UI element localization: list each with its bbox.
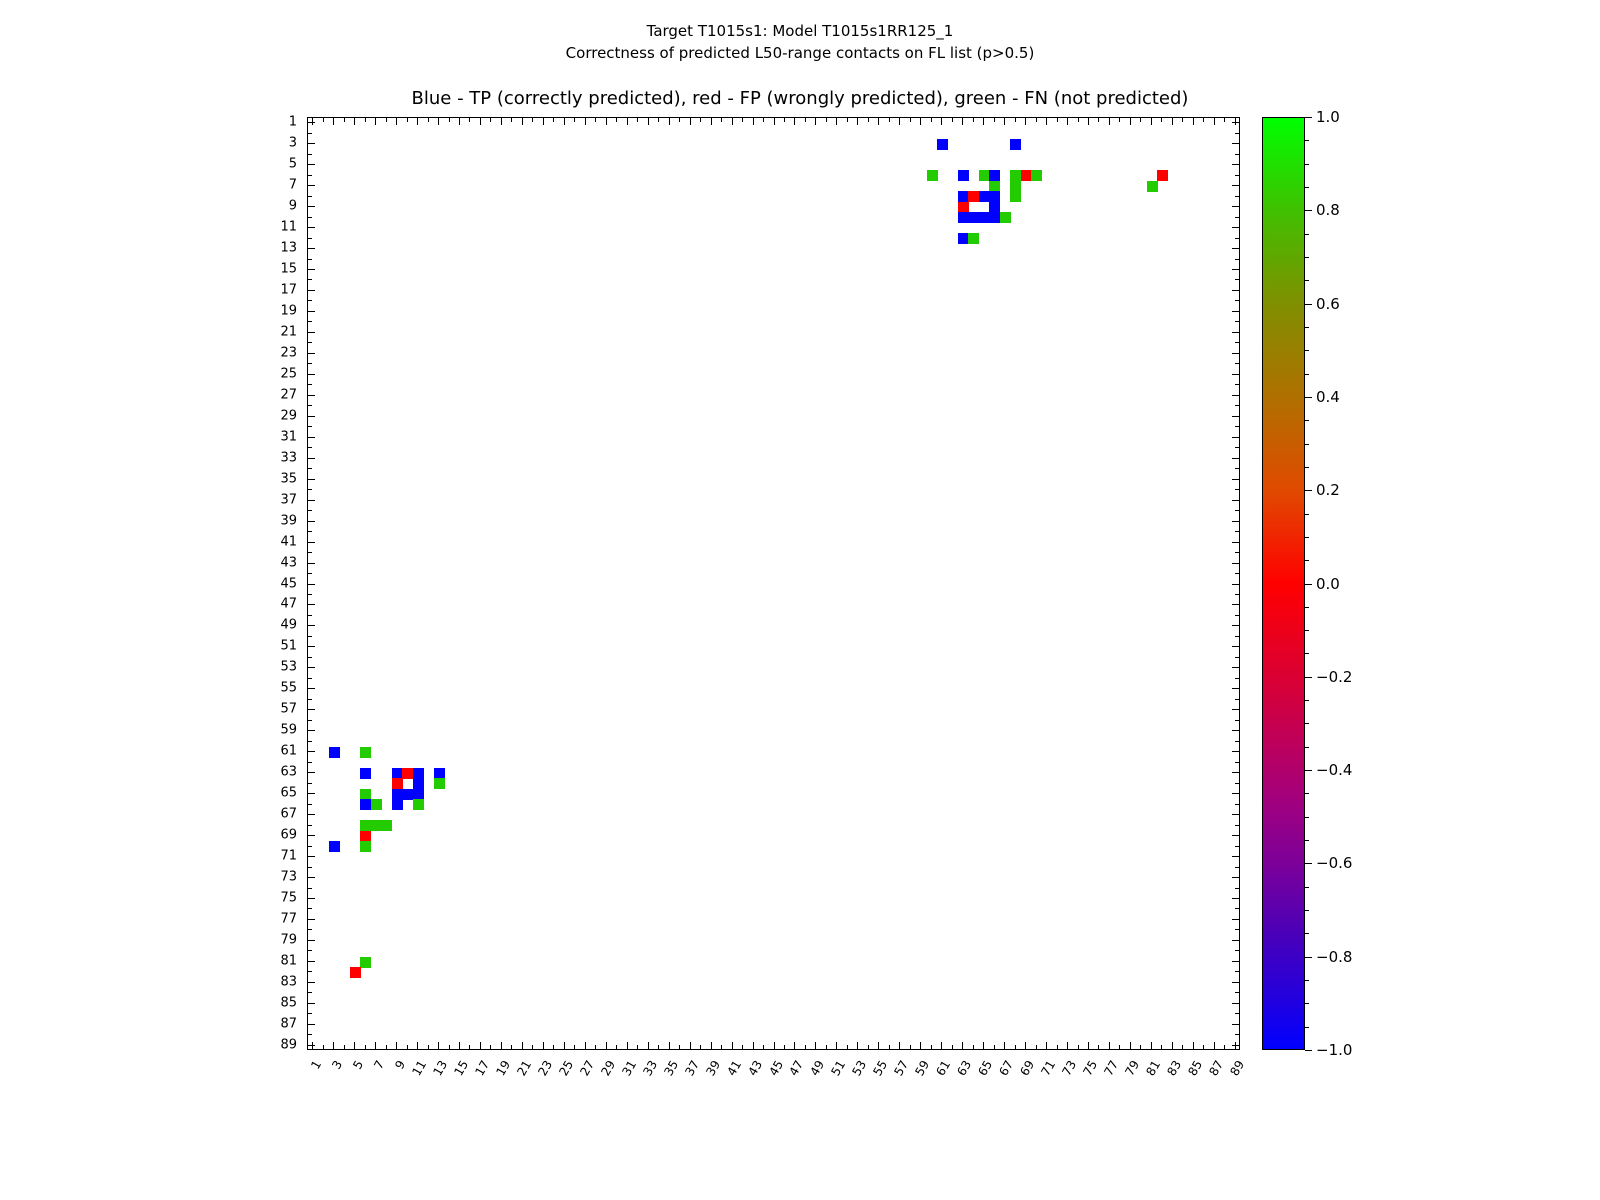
- x-tick-top-46: [784, 117, 785, 122]
- y-axis-label-61: 61: [0, 744, 297, 759]
- y-tick-right-27: [1232, 395, 1240, 396]
- colorbar-label-1: 0.8: [1316, 201, 1340, 219]
- colorbar-minor-tick-39: [1305, 1027, 1309, 1028]
- x-tick-top-39: [711, 117, 712, 125]
- x-tick-2: [323, 1045, 324, 1050]
- y-tick-right-89: [1232, 1045, 1240, 1046]
- y-tick-30: [307, 426, 312, 427]
- x-tick-top-17: [480, 117, 481, 125]
- x-tick-81: [1151, 1042, 1152, 1050]
- y-axis-label-25: 25: [0, 366, 297, 381]
- y-axis-label-71: 71: [0, 849, 297, 864]
- x-tick-top-12: [428, 117, 429, 122]
- x-tick-top-87: [1214, 117, 1215, 125]
- y-tick-right-68: [1235, 825, 1240, 826]
- x-tick-47: [794, 1042, 795, 1050]
- y-tick-32: [307, 447, 312, 448]
- y-tick-60: [307, 741, 312, 742]
- y-tick-89: [307, 1045, 315, 1046]
- x-tick-11: [417, 1042, 418, 1050]
- x-tick-top-34: [658, 117, 659, 122]
- y-tick-right-52: [1235, 657, 1240, 658]
- title-line-1: Target T1015s1: Model T1015s1RR125_1: [0, 20, 1600, 42]
- x-tick-18: [490, 1045, 491, 1050]
- y-tick-4: [307, 154, 312, 155]
- contact-cell-tp: [958, 170, 969, 181]
- colorbar-minor-tick-27: [1305, 747, 1309, 748]
- colorbar-label-3: 0.4: [1316, 388, 1340, 406]
- x-tick-top-4: [344, 117, 345, 122]
- colorbar-minor-tick-17: [1305, 514, 1309, 515]
- x-tick-1: [312, 1042, 313, 1050]
- y-tick-26: [307, 384, 312, 385]
- x-tick-top-66: [994, 117, 995, 122]
- x-tick-84: [1182, 1045, 1183, 1050]
- contact-cell-fn: [371, 820, 382, 831]
- x-tick-61: [941, 1042, 942, 1050]
- y-tick-6: [307, 175, 312, 176]
- colorbar-minor-tick-36: [1305, 957, 1309, 958]
- x-tick-top-65: [983, 117, 984, 125]
- x-tick-top-20: [511, 117, 512, 122]
- colorbar-minor-tick-9: [1305, 327, 1309, 328]
- y-axis-label-11: 11: [0, 220, 297, 235]
- y-tick-right-56: [1235, 699, 1240, 700]
- y-tick-23: [307, 353, 315, 354]
- x-tick-62: [952, 1045, 953, 1050]
- y-tick-right-20: [1235, 321, 1240, 322]
- y-tick-42: [307, 552, 312, 553]
- x-tick-75: [1088, 1042, 1089, 1050]
- y-tick-24: [307, 363, 312, 364]
- y-tick-right-31: [1232, 437, 1240, 438]
- y-tick-16: [307, 279, 312, 280]
- y-tick-1: [307, 122, 315, 123]
- y-tick-84: [307, 992, 312, 993]
- contact-cell-fn: [360, 841, 371, 852]
- colorbar-minor-tick-37: [1305, 980, 1309, 981]
- x-tick-68: [1015, 1045, 1016, 1050]
- x-tick-top-67: [1004, 117, 1005, 125]
- x-tick-79: [1130, 1042, 1131, 1050]
- y-axis-label-87: 87: [0, 1016, 297, 1031]
- colorbar-minor-tick-28: [1305, 770, 1309, 771]
- x-tick-24: [553, 1045, 554, 1050]
- y-tick-right-53: [1232, 667, 1240, 668]
- y-tick-right-48: [1235, 615, 1240, 616]
- y-tick-67: [307, 814, 315, 815]
- y-tick-right-28: [1235, 405, 1240, 406]
- y-tick-right-25: [1232, 374, 1240, 375]
- y-tick-72: [307, 867, 312, 868]
- contact-cell-fn: [1147, 181, 1158, 192]
- x-tick-29: [606, 1042, 607, 1050]
- y-tick-7: [307, 185, 315, 186]
- x-tick-top-40: [721, 117, 722, 122]
- y-tick-43: [307, 563, 315, 564]
- y-tick-right-5: [1232, 164, 1240, 165]
- x-tick-top-18: [490, 117, 491, 122]
- y-tick-77: [307, 919, 315, 920]
- y-tick-right-49: [1232, 625, 1240, 626]
- x-tick-74: [1078, 1045, 1079, 1050]
- x-tick-30: [616, 1045, 617, 1050]
- colorbar-minor-tick-13: [1305, 420, 1309, 421]
- y-tick-right-4: [1235, 154, 1240, 155]
- y-tick-52: [307, 657, 312, 658]
- x-tick-87: [1214, 1042, 1215, 1050]
- y-tick-right-75: [1232, 898, 1240, 899]
- contact-cell-fn: [413, 799, 424, 810]
- x-tick-43: [753, 1042, 754, 1050]
- contact-map-plot: [307, 117, 1240, 1050]
- y-tick-right-3: [1232, 143, 1240, 144]
- y-tick-right-43: [1232, 563, 1240, 564]
- y-tick-63: [307, 772, 315, 773]
- y-tick-40: [307, 531, 312, 532]
- contact-cell-tp: [979, 212, 990, 223]
- x-tick-top-2: [323, 117, 324, 122]
- colorbar-label-10: −1.0: [1316, 1041, 1352, 1059]
- x-tick-top-10: [407, 117, 408, 122]
- y-tick-right-7: [1232, 185, 1240, 186]
- x-tick-5: [354, 1042, 355, 1050]
- colorbar-minor-tick-20: [1305, 584, 1309, 585]
- y-axis-label-33: 33: [0, 450, 297, 465]
- x-tick-9: [396, 1042, 397, 1050]
- contact-cell-tp: [392, 799, 403, 810]
- colorbar-minor-tick-35: [1305, 933, 1309, 934]
- contact-cell-tp: [360, 799, 371, 810]
- x-tick-48: [805, 1045, 806, 1050]
- y-tick-53: [307, 667, 315, 668]
- x-tick-top-57: [899, 117, 900, 125]
- y-tick-10: [307, 217, 312, 218]
- y-tick-12: [307, 238, 312, 239]
- y-tick-38: [307, 510, 312, 511]
- y-tick-right-33: [1232, 458, 1240, 459]
- y-tick-33: [307, 458, 315, 459]
- colorbar-minor-tick-38: [1305, 1003, 1309, 1004]
- y-axis-label-9: 9: [0, 199, 297, 214]
- x-tick-top-19: [501, 117, 502, 125]
- y-tick-right-29: [1232, 416, 1240, 417]
- y-tick-48: [307, 615, 312, 616]
- y-tick-right-76: [1235, 908, 1240, 909]
- y-axis-label-57: 57: [0, 702, 297, 717]
- y-tick-right-59: [1232, 730, 1240, 731]
- x-tick-top-1: [312, 117, 313, 125]
- y-tick-right-78: [1235, 929, 1240, 930]
- y-tick-71: [307, 856, 315, 857]
- x-tick-34: [658, 1045, 659, 1050]
- x-tick-top-13: [438, 117, 439, 125]
- x-tick-top-50: [826, 117, 827, 122]
- x-tick-44: [763, 1045, 764, 1050]
- y-tick-59: [307, 730, 315, 731]
- y-tick-21: [307, 332, 315, 333]
- colorbar-label-2: 0.6: [1316, 295, 1340, 313]
- y-tick-right-12: [1235, 238, 1240, 239]
- contact-cell-fp: [958, 202, 969, 213]
- y-tick-15: [307, 269, 315, 270]
- y-axis-label-7: 7: [0, 178, 297, 193]
- y-tick-47: [307, 604, 315, 605]
- x-tick-56: [889, 1045, 890, 1050]
- x-tick-65: [983, 1042, 984, 1050]
- y-tick-79: [307, 940, 315, 941]
- x-tick-top-27: [585, 117, 586, 125]
- y-tick-8: [307, 196, 312, 197]
- y-tick-right-73: [1232, 877, 1240, 878]
- x-tick-top-24: [553, 117, 554, 122]
- contact-cells-layer: [308, 118, 1239, 1049]
- y-tick-right-44: [1235, 573, 1240, 574]
- y-tick-right-9: [1232, 206, 1240, 207]
- y-tick-86: [307, 1013, 312, 1014]
- y-axis-label-49: 49: [0, 618, 297, 633]
- x-tick-23: [543, 1042, 544, 1050]
- colorbar-label-8: −0.6: [1316, 854, 1352, 872]
- y-tick-64: [307, 783, 312, 784]
- title-line-2: Correctness of predicted L50-range conta…: [0, 42, 1600, 64]
- x-tick-12: [428, 1045, 429, 1050]
- y-tick-83: [307, 982, 315, 983]
- y-tick-right-17: [1232, 290, 1240, 291]
- x-tick-top-7: [375, 117, 376, 125]
- x-tick-14: [449, 1045, 450, 1050]
- x-tick-20: [511, 1045, 512, 1050]
- y-tick-2: [307, 133, 312, 134]
- contact-cell-fp: [402, 768, 413, 779]
- y-tick-right-38: [1235, 510, 1240, 511]
- x-tick-top-41: [732, 117, 733, 125]
- x-tick-57: [899, 1042, 900, 1050]
- y-tick-74: [307, 888, 312, 889]
- colorbar-minor-tick-3: [1305, 187, 1309, 188]
- y-axis-label-39: 39: [0, 513, 297, 528]
- contact-cell-tp: [413, 789, 424, 800]
- x-tick-82: [1161, 1045, 1162, 1050]
- y-tick-37: [307, 500, 315, 501]
- x-tick-32: [637, 1045, 638, 1050]
- colorbar-minor-tick-26: [1305, 723, 1309, 724]
- y-tick-69: [307, 835, 315, 836]
- x-tick-top-36: [679, 117, 680, 122]
- colorbar-minor-tick-40: [1305, 1050, 1309, 1051]
- y-axis-label-73: 73: [0, 870, 297, 885]
- x-tick-76: [1098, 1045, 1099, 1050]
- x-tick-42: [742, 1045, 743, 1050]
- x-tick-3: [333, 1042, 334, 1050]
- colorbar-minor-tick-8: [1305, 304, 1309, 305]
- x-tick-top-49: [815, 117, 816, 125]
- x-tick-top-21: [522, 117, 523, 125]
- y-tick-36: [307, 489, 312, 490]
- y-axis-label-67: 67: [0, 807, 297, 822]
- x-tick-49: [815, 1042, 816, 1050]
- x-tick-top-29: [606, 117, 607, 125]
- contact-cell-tp: [968, 212, 979, 223]
- y-axis-label-29: 29: [0, 408, 297, 423]
- x-tick-top-15: [459, 117, 460, 125]
- x-tick-top-84: [1182, 117, 1183, 122]
- y-axis-label-89: 89: [0, 1037, 297, 1052]
- y-tick-right-80: [1235, 950, 1240, 951]
- x-tick-70: [1036, 1045, 1037, 1050]
- y-tick-right-42: [1235, 552, 1240, 553]
- colorbar-minor-tick-34: [1305, 910, 1309, 911]
- x-tick-top-75: [1088, 117, 1089, 125]
- x-tick-77: [1109, 1042, 1110, 1050]
- colorbar-minor-tick-0: [1305, 117, 1309, 118]
- x-tick-15: [459, 1042, 460, 1050]
- x-tick-top-55: [878, 117, 879, 125]
- x-tick-top-35: [669, 117, 670, 125]
- contact-cell-fn: [1031, 170, 1042, 181]
- x-tick-80: [1140, 1045, 1141, 1050]
- x-tick-top-68: [1015, 117, 1016, 122]
- x-tick-top-56: [889, 117, 890, 122]
- contact-cell-tp: [989, 202, 1000, 213]
- y-tick-17: [307, 290, 315, 291]
- x-tick-73: [1067, 1042, 1068, 1050]
- y-tick-41: [307, 542, 315, 543]
- x-tick-78: [1119, 1045, 1120, 1050]
- y-axis-label-19: 19: [0, 303, 297, 318]
- y-tick-right-84: [1235, 992, 1240, 993]
- y-axis-label-3: 3: [0, 136, 297, 151]
- x-tick-top-79: [1130, 117, 1131, 125]
- contact-cell-fn: [979, 170, 990, 181]
- y-tick-51: [307, 646, 315, 647]
- x-tick-top-14: [449, 117, 450, 122]
- y-tick-right-61: [1232, 751, 1240, 752]
- x-tick-35: [669, 1042, 670, 1050]
- y-tick-14: [307, 259, 312, 260]
- x-tick-top-80: [1140, 117, 1141, 122]
- x-tick-50: [826, 1045, 827, 1050]
- x-tick-22: [532, 1045, 533, 1050]
- x-tick-top-8: [386, 117, 387, 122]
- x-tick-top-85: [1193, 117, 1194, 125]
- y-tick-right-32: [1235, 447, 1240, 448]
- x-tick-top-6: [365, 117, 366, 122]
- x-tick-66: [994, 1045, 995, 1050]
- contact-cell-tp: [413, 778, 424, 789]
- y-tick-right-36: [1235, 489, 1240, 490]
- x-tick-top-25: [564, 117, 565, 125]
- y-tick-right-24: [1235, 363, 1240, 364]
- y-tick-right-88: [1235, 1034, 1240, 1035]
- x-tick-top-77: [1109, 117, 1110, 125]
- x-tick-67: [1004, 1042, 1005, 1050]
- contact-cell-tp: [958, 191, 969, 202]
- y-axis-label-55: 55: [0, 681, 297, 696]
- figure-title: Target T1015s1: Model T1015s1RR125_1 Cor…: [0, 20, 1600, 64]
- y-tick-right-65: [1232, 793, 1240, 794]
- x-tick-top-74: [1078, 117, 1079, 122]
- colorbar-minor-tick-25: [1305, 700, 1309, 701]
- y-axis-label-15: 15: [0, 262, 297, 277]
- y-tick-right-57: [1232, 709, 1240, 710]
- colorbar-label-4: 0.2: [1316, 481, 1340, 499]
- x-tick-top-64: [973, 117, 974, 122]
- colorbar-minor-tick-15: [1305, 467, 1309, 468]
- y-tick-73: [307, 877, 315, 878]
- y-axis-label-45: 45: [0, 576, 297, 591]
- x-tick-top-59: [920, 117, 921, 125]
- y-axis-label-47: 47: [0, 597, 297, 612]
- x-tick-top-48: [805, 117, 806, 122]
- x-tick-top-22: [532, 117, 533, 122]
- y-tick-right-15: [1232, 269, 1240, 270]
- contact-cell-tp: [979, 191, 990, 202]
- y-axis-label-75: 75: [0, 890, 297, 905]
- y-tick-right-10: [1235, 217, 1240, 218]
- x-tick-top-45: [774, 117, 775, 125]
- contact-cell-tp: [329, 841, 340, 852]
- x-tick-top-72: [1057, 117, 1058, 122]
- y-axis-label-37: 37: [0, 492, 297, 507]
- contact-cell-fn: [1010, 191, 1021, 202]
- x-tick-top-62: [952, 117, 953, 122]
- x-tick-39: [711, 1042, 712, 1050]
- x-tick-top-53: [857, 117, 858, 125]
- colorbar-minor-tick-22: [1305, 630, 1309, 631]
- x-tick-6: [365, 1045, 366, 1050]
- y-axis-label-23: 23: [0, 345, 297, 360]
- colorbar-minor-tick-14: [1305, 444, 1309, 445]
- contact-cell-fn: [371, 799, 382, 810]
- x-tick-31: [627, 1042, 628, 1050]
- contact-cell-fp: [392, 778, 403, 789]
- y-tick-65: [307, 793, 315, 794]
- colorbar-label-7: −0.4: [1316, 761, 1352, 779]
- colorbar-label-5: 0.0: [1316, 575, 1340, 593]
- y-tick-right-72: [1235, 867, 1240, 868]
- y-tick-5: [307, 164, 315, 165]
- y-tick-right-2: [1235, 133, 1240, 134]
- colorbar-minor-tick-29: [1305, 793, 1309, 794]
- y-tick-right-86: [1235, 1013, 1240, 1014]
- y-axis-label-53: 53: [0, 660, 297, 675]
- contact-cell-tp: [1010, 139, 1021, 150]
- colorbar-minor-tick-33: [1305, 887, 1309, 888]
- y-axis-label-41: 41: [0, 534, 297, 549]
- y-tick-right-40: [1235, 531, 1240, 532]
- y-tick-right-34: [1235, 468, 1240, 469]
- x-tick-52: [847, 1045, 848, 1050]
- x-tick-16: [469, 1045, 470, 1050]
- colorbar-minor-tick-2: [1305, 164, 1309, 165]
- x-tick-19: [501, 1042, 502, 1050]
- x-tick-top-83: [1172, 117, 1173, 125]
- y-axis-label-79: 79: [0, 932, 297, 947]
- x-tick-top-16: [469, 117, 470, 122]
- y-tick-35: [307, 479, 315, 480]
- y-tick-39: [307, 521, 315, 522]
- y-tick-right-46: [1235, 594, 1240, 595]
- y-tick-70: [307, 846, 312, 847]
- x-tick-59: [920, 1042, 921, 1050]
- x-tick-top-33: [648, 117, 649, 125]
- y-tick-right-35: [1232, 479, 1240, 480]
- y-axis-label-51: 51: [0, 639, 297, 654]
- y-axis-label-27: 27: [0, 387, 297, 402]
- x-tick-45: [774, 1042, 775, 1050]
- y-tick-right-69: [1232, 835, 1240, 836]
